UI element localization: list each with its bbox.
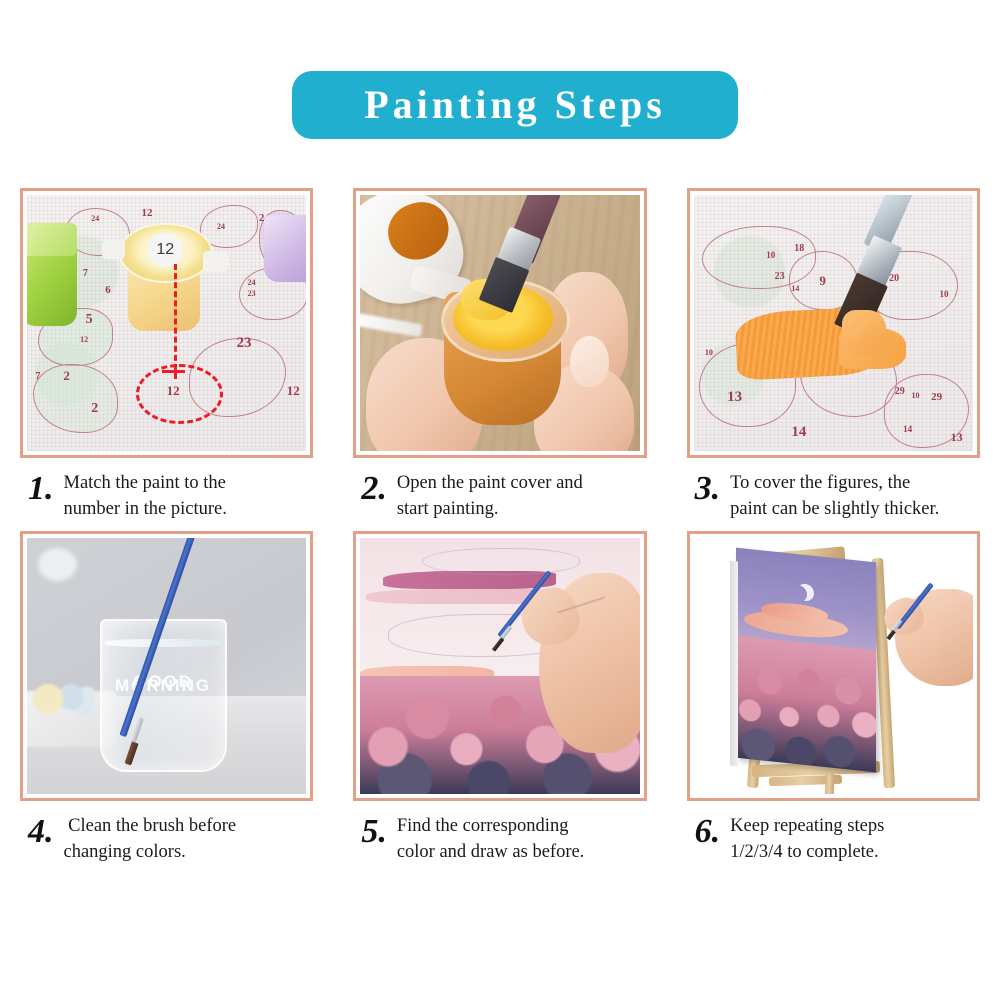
- step-1-line-2: number in the picture.: [64, 496, 227, 522]
- paint-pot-matching-number-photo: 12 24 2 24 7 6 5 12 2 7 2 23 24 23 12: [27, 195, 306, 451]
- step-2-text: Open the paint cover and start painting.: [397, 470, 583, 523]
- yellow-paint-pot-tab-left: [102, 241, 124, 259]
- canvas-number: 20: [889, 274, 899, 284]
- step-1-line-1: Match the paint to the: [64, 470, 227, 496]
- water-surface: [105, 639, 221, 646]
- glass-text-line-2: MORNING: [102, 676, 225, 696]
- step-4-number: 4.: [28, 813, 54, 849]
- steps-row-bottom: GOOD MORNING 4. Clean the brush before c…: [0, 531, 1000, 866]
- background-eggs: [33, 681, 94, 717]
- step-3-line-1: To cover the figures, the: [730, 470, 939, 496]
- brush-rinsing-photo: GOOD MORNING: [27, 538, 306, 794]
- canvas-number: 18: [794, 244, 804, 254]
- yellow-paint-pot-tab-right: [203, 251, 228, 271]
- purple-paint-pot: [264, 215, 306, 282]
- step-5-photo-frame: [353, 531, 646, 801]
- step-5-text: Find the corresponding color and draw as…: [397, 813, 584, 866]
- water-glass: GOOD MORNING: [100, 619, 227, 771]
- step-2-line-2: start painting.: [397, 496, 583, 522]
- canvas-number: 5: [86, 313, 93, 327]
- step-2-caption: 2. Open the paint cover and start painti…: [353, 458, 646, 523]
- canvas-number: 2: [91, 402, 98, 416]
- canvas-number: 10: [939, 290, 948, 299]
- canvas-number: 24: [91, 215, 99, 223]
- step-6-photo-frame: [687, 531, 980, 801]
- pointer-dashed-line: [174, 264, 177, 379]
- crescent-moon-icon: [797, 584, 814, 603]
- canvas-number: 7: [83, 269, 88, 279]
- canvas-number: 23: [236, 336, 251, 351]
- canvas-number: 14: [791, 285, 799, 293]
- painting-steps-grid: 12 24 2 24 7 6 5 12 2 7 2 23 24 23 12: [0, 188, 1000, 865]
- step-3-text: To cover the figures, the paint can be s…: [730, 470, 939, 523]
- step-6-text: Keep repeating steps 1/2/3/4 to complete…: [730, 813, 884, 866]
- step-cell-1: 12 24 2 24 7 6 5 12 2 7 2 23 24 23 12: [0, 188, 333, 523]
- canvas-number: 10: [705, 349, 713, 357]
- canvas-number: 13: [727, 390, 742, 405]
- canvas-number: 23: [775, 272, 785, 282]
- step-cell-5: 5. Find the corresponding color and draw…: [333, 531, 666, 866]
- canvas-number: 14: [791, 425, 806, 440]
- page-title: Painting Steps: [364, 85, 666, 125]
- brush-loaded-paint: [842, 310, 887, 356]
- step-1-photo-frame: 12 24 2 24 7 6 5 12 2 7 2 23 24 23 12: [20, 188, 313, 458]
- easel-back-leg: [824, 773, 834, 794]
- painting-blossoms-photo: [360, 538, 639, 794]
- step-cell-2: 2. Open the paint cover and start painti…: [333, 188, 666, 523]
- canvas-number: 29: [895, 387, 905, 397]
- background-blur-object: [38, 548, 77, 581]
- step-4-line-2: changing colors.: [64, 839, 237, 865]
- canvas-side-edge: [730, 560, 738, 766]
- step-6-line-1: Keep repeating steps: [730, 813, 884, 839]
- canvas-blossoms: [736, 636, 876, 772]
- step-3-line-2: paint can be slightly thicker.: [730, 496, 939, 522]
- step-5-number: 5.: [361, 813, 387, 849]
- canvas-number: 23: [248, 290, 256, 298]
- open-paint-pot-in-hand-photo: [360, 195, 639, 451]
- step-2-photo-frame: [353, 188, 646, 458]
- step-1-number: 1.: [28, 470, 54, 506]
- finished-canvas: [736, 548, 876, 773]
- fingernail: [570, 336, 609, 387]
- step-2-line-1: Open the paint cover and: [397, 470, 583, 496]
- steps-row-top: 12 24 2 24 7 6 5 12 2 7 2 23 24 23 12: [0, 188, 1000, 523]
- step-cell-6: 6. Keep repeating steps 1/2/3/4 to compl…: [667, 531, 1000, 866]
- step-1-caption: 1. Match the paint to the number in the …: [20, 458, 313, 523]
- canvas-number: 2: [63, 369, 70, 382]
- step-3-caption: 3. To cover the figures, the paint can b…: [687, 458, 980, 523]
- canvas-number: 6: [105, 285, 111, 296]
- canvas-number: 10: [766, 251, 775, 260]
- canvas-number: 9: [819, 274, 826, 287]
- step-3-photo-frame: 10 18 23 14 9 20 10 10 20 13 29 10 29 14…: [687, 188, 980, 458]
- step-2-number: 2.: [361, 470, 387, 506]
- step-6-number: 6.: [695, 813, 721, 849]
- canvas-number: 7: [35, 372, 40, 382]
- pointer-crosshair: [162, 370, 184, 373]
- step-5-line-2: color and draw as before.: [397, 839, 584, 865]
- step-4-line-1: Clean the brush before: [64, 813, 237, 839]
- step-4-photo-frame: GOOD MORNING: [20, 531, 313, 801]
- wrist: [939, 604, 973, 671]
- step-5-caption: 5. Find the corresponding color and draw…: [353, 801, 646, 866]
- step-6-caption: 6. Keep repeating steps 1/2/3/4 to compl…: [687, 801, 980, 866]
- step-5-line-1: Find the corresponding: [397, 813, 584, 839]
- green-paint-pot-lid: [27, 223, 77, 256]
- thick-paint-stroke-photo: 10 18 23 14 9 20 10 10 20 13 29 10 29 14…: [694, 195, 973, 451]
- finished-painting-on-easel-photo: [694, 538, 973, 794]
- step-6-line-2: 1/2/3/4 to complete.: [730, 839, 884, 865]
- paint-pot-number-sticker: 12: [147, 233, 183, 266]
- step-cell-4: GOOD MORNING 4. Clean the brush before c…: [0, 531, 333, 866]
- canvas-number: 10: [912, 392, 920, 400]
- canvas-number: 29: [931, 392, 942, 403]
- step-4-text: Clean the brush before changing colors.: [64, 813, 237, 866]
- canvas-number: 13: [951, 431, 963, 443]
- paint-pot-number: 12: [156, 241, 174, 259]
- step-cell-3: 10 18 23 14 9 20 10 10 20 13 29 10 29 14…: [667, 188, 1000, 523]
- canvas-number: 12: [142, 208, 153, 219]
- step-3-number: 3.: [695, 470, 721, 506]
- step-4-caption: 4. Clean the brush before changing color…: [20, 801, 313, 866]
- canvas-number: 14: [903, 425, 912, 434]
- step-1-text: Match the paint to the number in the pic…: [64, 470, 227, 523]
- canvas-number: 12: [80, 336, 88, 344]
- canvas-number: 24: [217, 223, 225, 231]
- canvas-number: 24: [248, 279, 256, 287]
- canvas-number: 12: [287, 384, 300, 397]
- target-number: 12: [167, 384, 180, 397]
- page-title-banner: Painting Steps: [292, 71, 738, 139]
